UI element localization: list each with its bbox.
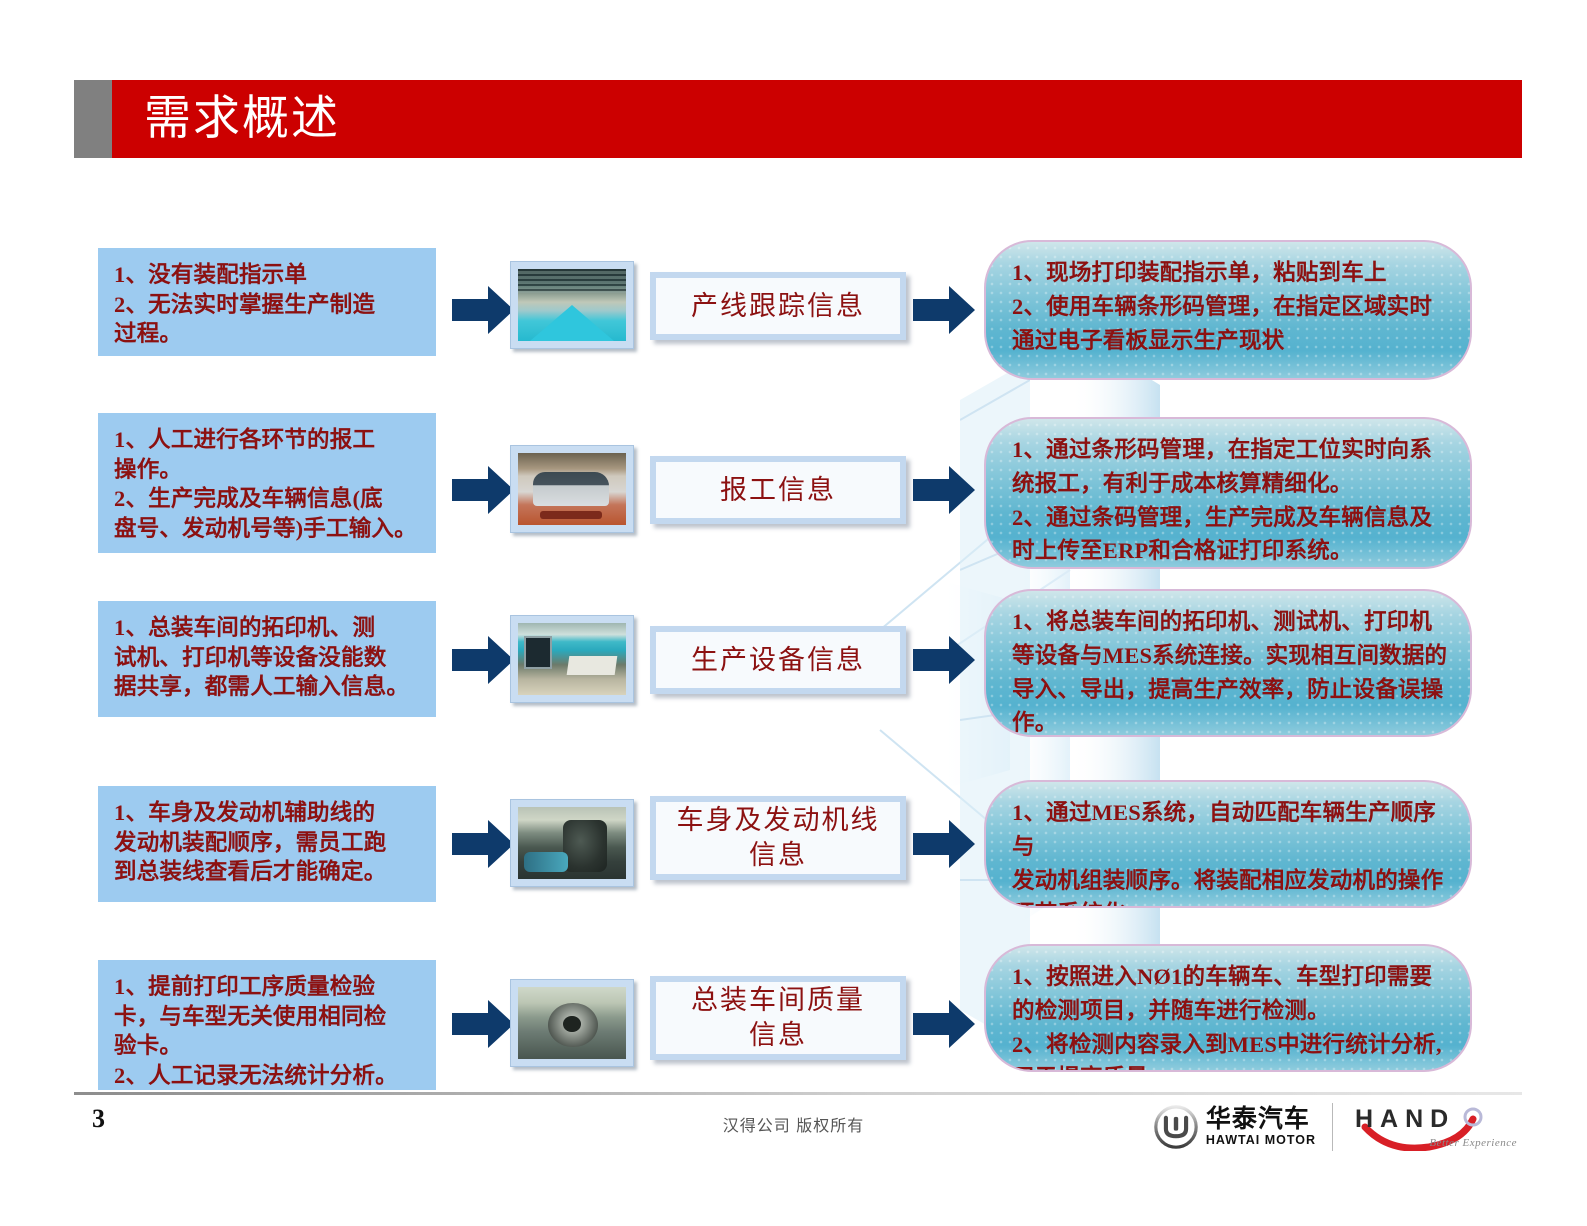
solution-box-1: 1、现场打印装配指示单，粘贴到车上 2、使用车辆条形码管理，在指定区域实时 通过… (984, 240, 1472, 380)
hawtai-wordmark: 华泰汽车 HAWTAI MOTOR (1206, 1107, 1316, 1147)
problem-box-5: 1、提前打印工序质量检验 卡，与车型无关使用相同检 验卡。 2、人工记录无法统计… (98, 960, 436, 1090)
category-label-1: 产线跟踪信息 (650, 272, 906, 340)
title-accent-block (74, 80, 112, 158)
flow-arrow-5b (913, 1000, 975, 1048)
footer-divider (74, 1092, 1522, 1095)
category-label-2: 报工信息 (650, 456, 906, 524)
hand-tagline: Better Experience (1429, 1137, 1517, 1149)
hand-logo: HAND Better Experience (1351, 1103, 1519, 1151)
flow-arrow-4 (452, 820, 514, 868)
slide-canvas: 需求概述 1、没有装配指示单 2、无法实时掌握生产制造 过 (0, 0, 1587, 1226)
flow-arrow-2 (452, 466, 514, 514)
solution-box-3: 1、将总装车间的拓印机、测试机、打印机 等设备与MES系统连接。实现相互间数据的… (984, 589, 1472, 737)
hawtai-emblem-icon (1154, 1105, 1198, 1149)
solution-box-2: 1、通过条形码管理，在指定工位实时向系 统报工，有利于成本核算精细化。 2、通过… (984, 417, 1472, 569)
solution-box-5: 1、按照进入NØ1的车辆车、车型打印需要 的检测项目，并随车进行检测。 2、将检… (984, 944, 1472, 1072)
thumbnail-test-equipment (510, 615, 634, 703)
thumbnail-car-body (510, 445, 634, 533)
thumbnail-engine-line (510, 799, 634, 887)
flow-arrow-4b (913, 820, 975, 868)
flow-arrow-5 (452, 1000, 514, 1048)
problem-box-4: 1、车身及发动机辅助线的 发动机装配顺序，需员工跑 到总装线查看后才能确定。 (98, 786, 436, 902)
category-label-3: 生产设备信息 (650, 626, 906, 694)
category-label-5: 总装车间质量 信息 (650, 976, 906, 1060)
perspective-left-lines (960, 360, 1030, 1060)
hawtai-name-en: HAWTAI MOTOR (1206, 1134, 1316, 1147)
category-label-4: 车身及发动机线 信息 (650, 796, 906, 880)
flow-arrow-3b (913, 636, 975, 684)
hawtai-logo: 华泰汽车 HAWTAI MOTOR (1154, 1103, 1333, 1151)
flow-arrow-3 (452, 636, 514, 684)
thumbnail-quality-part (510, 979, 634, 1067)
solution-box-4: 1、通过MES系统，自动匹配车辆生产顺序与 发动机组装顺序。将装配相应发动机的操… (984, 780, 1472, 908)
hawtai-name-cn: 华泰汽车 (1206, 1107, 1316, 1132)
flow-arrow-1b (913, 286, 975, 334)
problem-box-3: 1、总装车间的拓印机、测 试机、打印机等设备没能数 据共享，都需人工输入信息。 (98, 601, 436, 717)
problem-box-1: 1、没有装配指示单 2、无法实时掌握生产制造 过程。 (98, 248, 436, 356)
footer-logos: 华泰汽车 HAWTAI MOTOR HAND Better Experience (1154, 1098, 1519, 1156)
problem-box-2: 1、人工进行各环节的报工 操作。 2、生产完成及车辆信息(底 盘号、发动机号等)… (98, 413, 436, 553)
rows-container: 1、没有装配指示单 2、无法实时掌握生产制造 过程。 产线跟踪信息 1、现场打印… (0, 0, 1587, 1226)
title-red-band: 需求概述 (112, 80, 1522, 158)
thumbnail-factory-line (510, 261, 634, 349)
hand-wordmark: HAND (1355, 1105, 1455, 1134)
flow-arrow-2b (913, 466, 975, 514)
perspective-connector-graphic (820, 330, 1160, 1030)
flow-arrow-1 (452, 286, 514, 334)
slide-title-banner: 需求概述 (74, 80, 1522, 158)
page-title: 需求概述 (112, 96, 340, 143)
